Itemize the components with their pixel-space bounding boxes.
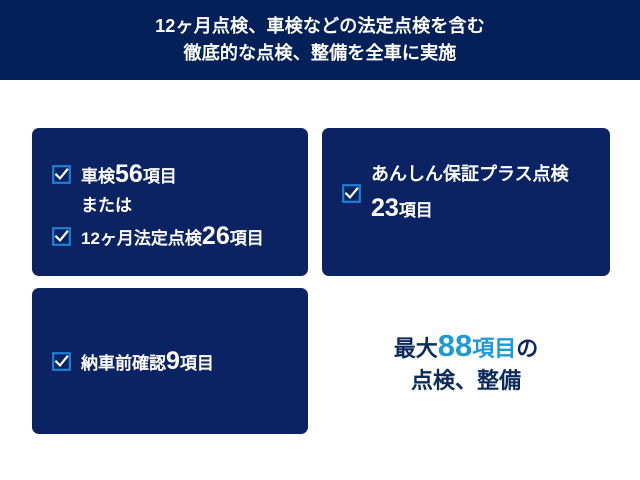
checkbox-checked-icon: [52, 352, 71, 371]
summary-total-count: 88: [438, 328, 472, 363]
summary-prefix: 最大: [394, 336, 438, 361]
summary-line-1: 最大88項目の: [394, 327, 539, 364]
warranty-text-block: あんしん保証プラス点検 23項目: [371, 164, 569, 222]
summary-total: 最大88項目の 点検、整備: [322, 288, 610, 434]
inspection-item-1-text: 車検56項目: [81, 160, 177, 189]
inspection-item-1-label: 車検: [81, 167, 115, 186]
inspection-item-2-count: 26: [202, 222, 230, 250]
card-warranty-content: あんしん保証プラス点検 23項目: [342, 164, 600, 222]
inspection-item-2-label: 12ヶ月法定点検: [81, 229, 202, 248]
inspection-item-2: 12ヶ月法定点検26項目: [52, 222, 296, 251]
summary-suffix: の: [516, 336, 538, 361]
inspection-item-1: 車検56項目: [52, 160, 296, 189]
predelivery-label: 納車前確認: [81, 354, 166, 373]
header-banner: 12ヶ月点検、車検などの法定点検を含む 徹底的な点検、整備を全車に実施: [0, 0, 640, 80]
warranty-count-line: 23項目: [371, 194, 569, 223]
predelivery-count: 9: [166, 347, 180, 375]
inspection-separator: または: [81, 196, 296, 216]
checkbox-checked-icon: [342, 184, 361, 203]
warranty-title: あんしん保証プラス点検: [371, 164, 569, 185]
header-line-1: 12ヶ月点検、車検などの法定点検を含む: [155, 13, 485, 40]
inspection-item-2-text: 12ヶ月法定点検26項目: [81, 222, 264, 251]
warranty-count: 23: [371, 194, 399, 222]
inspection-item-2-unit: 項目: [230, 229, 264, 248]
warranty-unit: 項目: [399, 201, 433, 220]
card-predelivery: 納車前確認9項目: [32, 288, 308, 434]
card-predelivery-content: 納車前確認9項目: [52, 288, 214, 434]
card-inspection: 車検56項目 または 12ヶ月法定点検26項目: [32, 128, 308, 276]
checkbox-checked-icon: [52, 165, 71, 184]
checkbox-checked-icon: [52, 227, 71, 246]
predelivery-text: 納車前確認9項目: [81, 347, 214, 376]
inspection-item-1-unit: 項目: [143, 167, 177, 186]
inspection-item-1-count: 56: [115, 160, 143, 188]
header-line-2: 徹底的な点検、整備を全車に実施: [184, 40, 457, 67]
card-warranty: あんしん保証プラス点検 23項目: [322, 128, 610, 276]
summary-line-2: 点検、整備: [411, 368, 521, 394]
summary-unit: 項目: [472, 336, 516, 361]
predelivery-unit: 項目: [180, 354, 214, 373]
card-inspection-content: 車検56項目 または 12ヶ月法定点検26項目: [52, 160, 296, 251]
